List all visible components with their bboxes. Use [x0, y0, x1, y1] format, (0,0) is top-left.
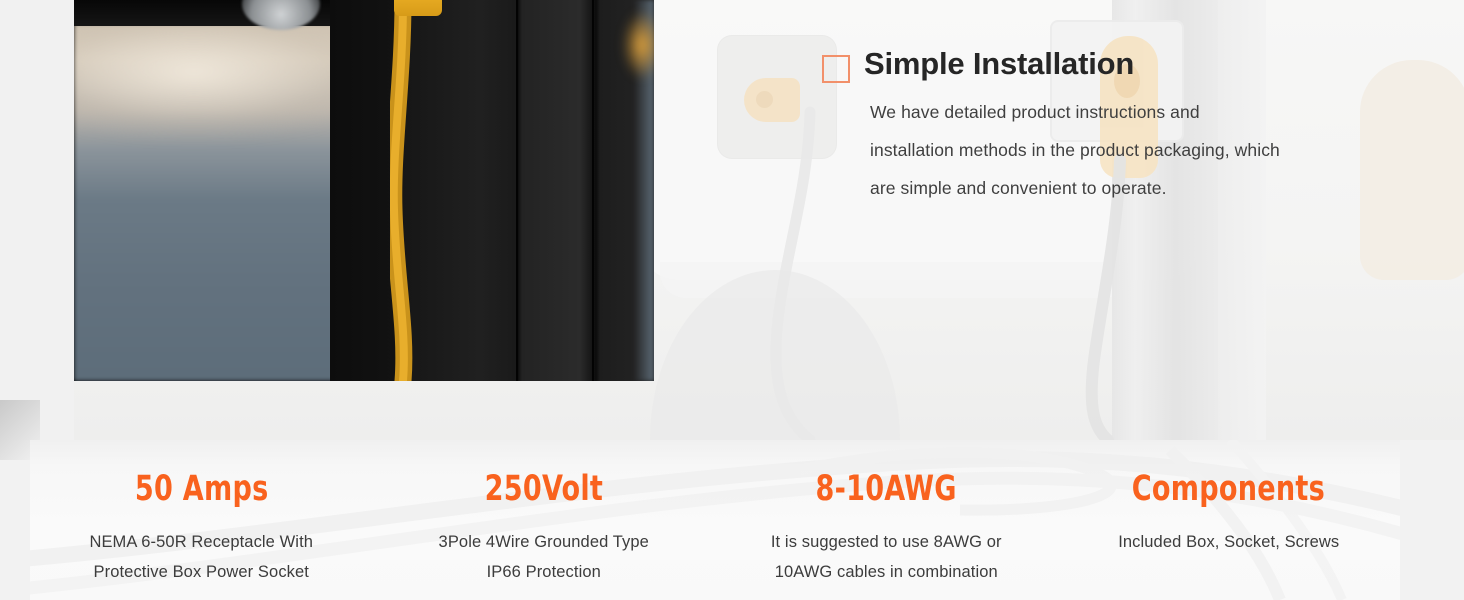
photo-post-seam — [592, 0, 594, 381]
watermark-tan-shape — [1360, 60, 1464, 280]
photo-background-bokeh — [622, 10, 654, 80]
watermark-wheel-arch — [650, 270, 900, 440]
product-photo — [74, 0, 654, 381]
page-left-margin — [0, 0, 74, 440]
spec-column: 50 Amps NEMA 6-50R Receptacle With Prote… — [30, 440, 373, 600]
photo-road-highlight — [74, 22, 374, 142]
spec-column: 250Volt 3Pole 4Wire Grounded Type IP66 P… — [373, 440, 716, 600]
specs-grid: 50 Amps NEMA 6-50R Receptacle With Prote… — [30, 440, 1400, 600]
photo-vehicle-underside — [74, 0, 374, 26]
watermark-wall-plate — [718, 36, 836, 158]
spec-column: Components Included Box, Socket, Screws — [1058, 440, 1401, 600]
spec-column: 8-10AWG It is suggested to use 8AWG or 1… — [715, 440, 1058, 600]
photo-cable-plug — [394, 0, 442, 16]
spec-description: Included Box, Socket, Screws — [1118, 527, 1339, 557]
watermark-orange-plug-left — [744, 78, 800, 122]
spec-title: 8-10AWG — [816, 472, 957, 507]
spec-description: 3Pole 4Wire Grounded Type IP66 Protectio… — [424, 527, 664, 587]
watermark-vehicle-lip — [660, 262, 1130, 298]
photo-charging-post — [330, 0, 654, 381]
feature-title: Simple Installation — [864, 48, 1134, 81]
product-feature-page: Simple Installation We have detailed pro… — [0, 0, 1464, 600]
feature-heading-row: Simple Installation — [822, 48, 1292, 83]
photo-post-seam — [516, 0, 518, 381]
photo-charging-cable-icon — [390, 0, 416, 381]
feature-description: We have detailed product instructions an… — [870, 93, 1280, 207]
spec-description: It is suggested to use 8AWG or 10AWG cab… — [766, 527, 1006, 587]
spec-description: NEMA 6-50R Receptacle With Protective Bo… — [81, 527, 321, 587]
spec-title: 50 Amps — [134, 472, 268, 507]
spec-title: 250Volt — [485, 472, 603, 507]
spec-title: Components — [1132, 472, 1325, 507]
specs-panel: 50 Amps NEMA 6-50R Receptacle With Prote… — [30, 440, 1400, 600]
square-bullet-icon — [822, 55, 850, 83]
feature-block: Simple Installation We have detailed pro… — [822, 48, 1292, 225]
